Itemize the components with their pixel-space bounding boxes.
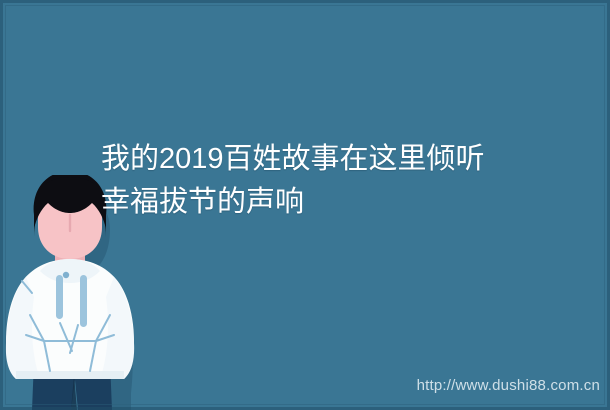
headline-text: 我的2019百姓故事在这里倾听 幸福拔节的声响 [101,138,561,224]
headline-line-1: 我的2019百姓故事在这里倾听 [101,138,561,181]
figure-hoodie [6,259,134,379]
article-cover-image: 我的2019百姓故事在这里倾听 幸福拔节的声响 http://www.dushi… [0,0,610,410]
headline-line-2: 幸福拔节的声响 [101,181,561,224]
watermark-url: http://www.dushi88.com.cn [417,377,600,394]
